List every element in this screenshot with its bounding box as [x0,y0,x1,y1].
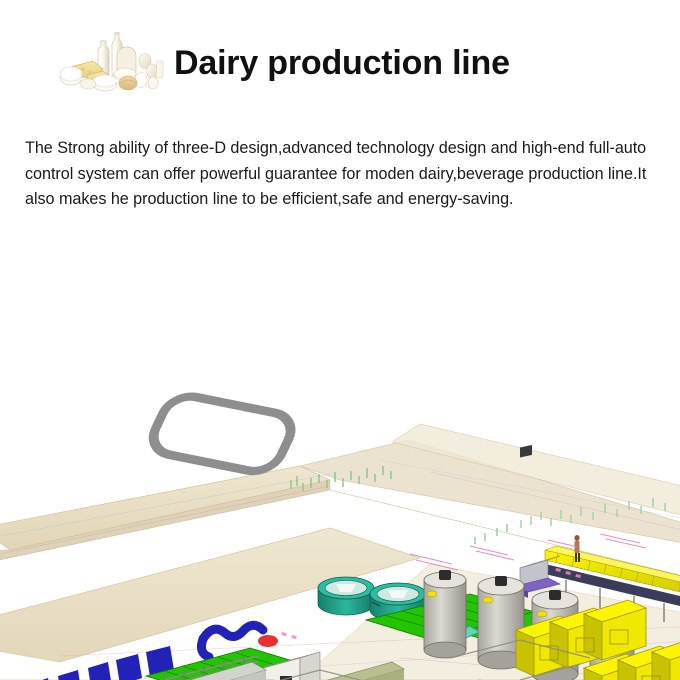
dairy-products-icon [57,27,165,93]
dairy-plant-illustration [0,228,680,680]
page-header: Dairy production line [0,0,680,108]
page-title: Dairy production line [174,43,510,83]
product-description: The Strong ability of three-D design,adv… [25,136,669,212]
page-root: Dairy production line The Strong ability… [0,0,680,680]
